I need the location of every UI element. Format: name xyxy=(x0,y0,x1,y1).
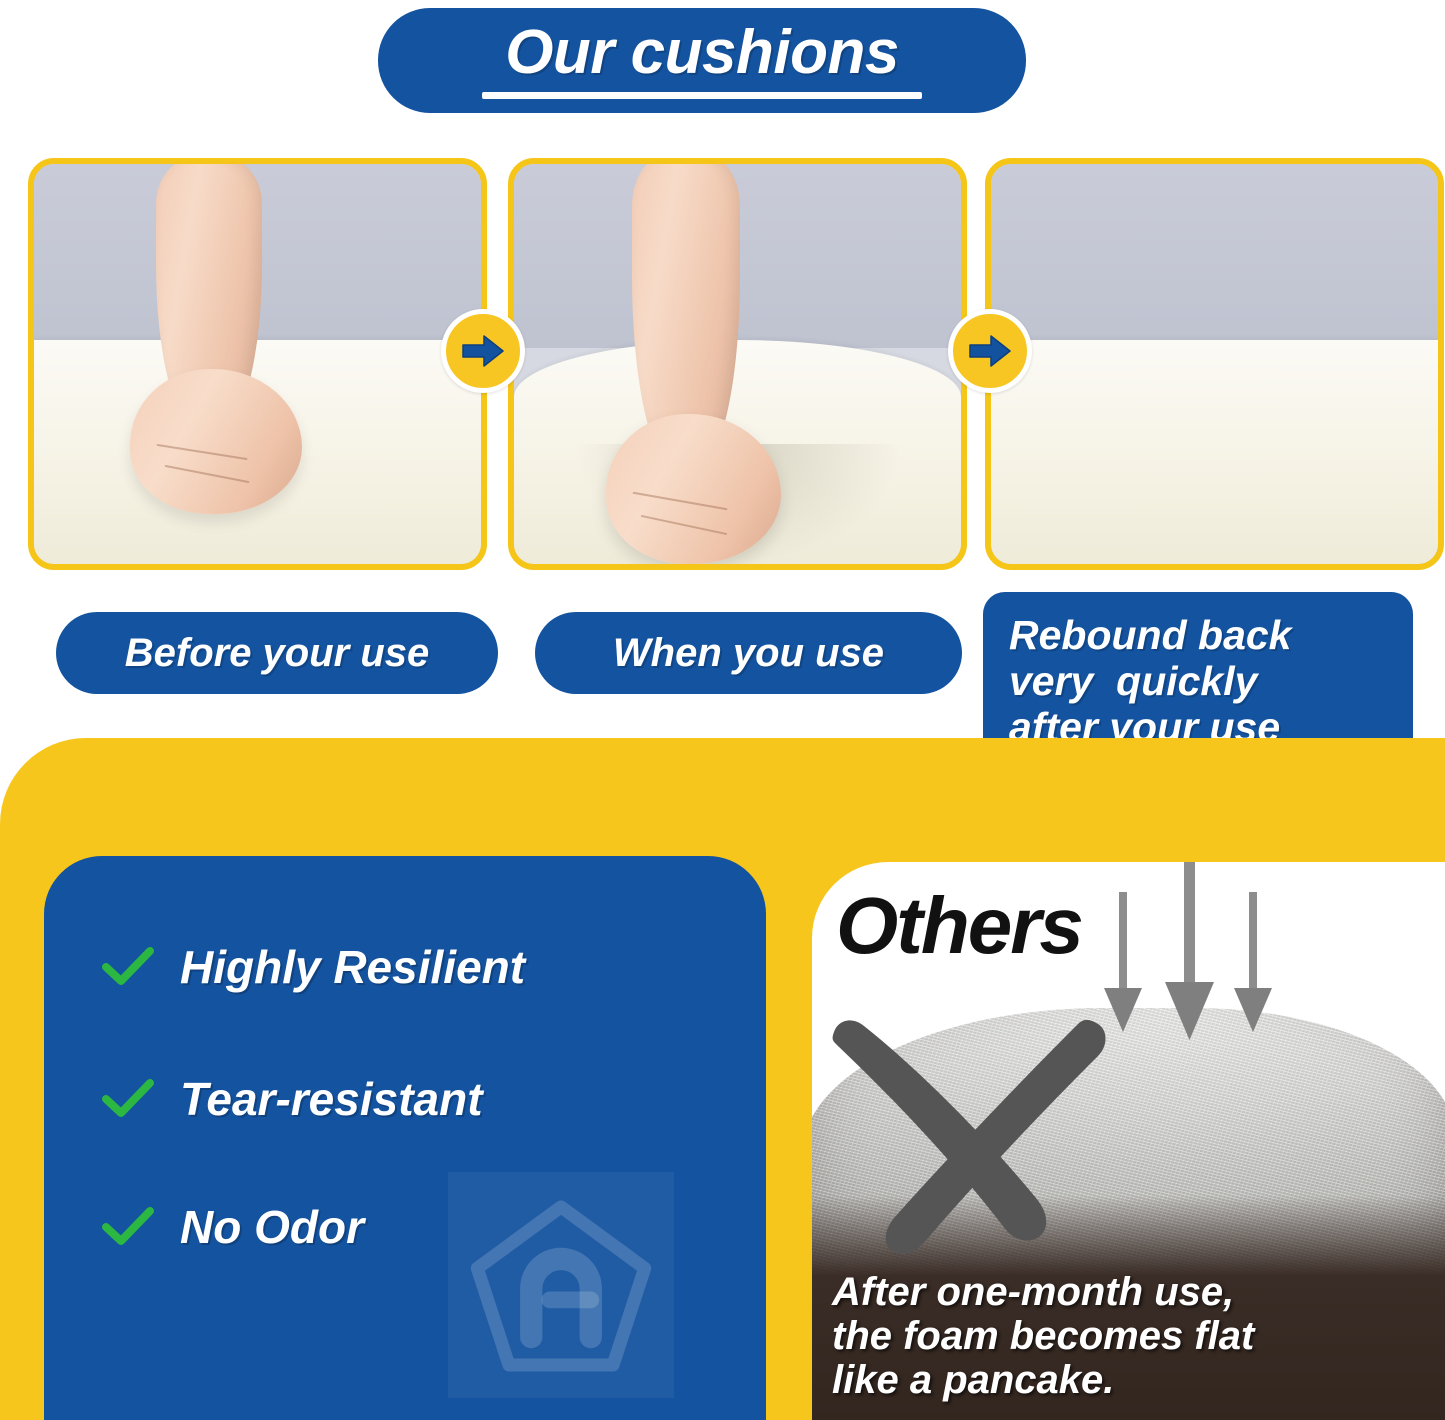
photo-card-before xyxy=(28,158,487,570)
feature-label: Tear-resistant xyxy=(180,1072,483,1126)
infographic-page: Our cushions xyxy=(0,0,1445,1420)
others-caption: After one-month use, the foam becomes fl… xyxy=(832,1270,1431,1402)
page-title: Our cushions xyxy=(505,22,899,84)
caption-line-3: like a pancake. xyxy=(832,1358,1431,1402)
foam-surface-rebounded xyxy=(991,340,1438,564)
photo-during xyxy=(514,164,961,564)
arrow-right-icon xyxy=(969,334,1011,368)
photo-after xyxy=(991,164,1438,564)
page-title-banner: Our cushions xyxy=(378,8,1026,113)
others-panel: Others After one-month use, the foam bec… xyxy=(812,862,1445,1420)
step-label-line-1: Rebound back xyxy=(1009,613,1413,659)
photo-before xyxy=(34,164,481,564)
step-label-during: When you use xyxy=(535,612,962,694)
title-underline xyxy=(482,92,922,99)
step-label-text: When you use xyxy=(613,631,884,676)
feature-item: No Odor xyxy=(102,1200,364,1254)
pentagon-logo-icon xyxy=(468,1195,654,1375)
step-label-text: Before your use xyxy=(125,631,430,676)
photo-card-during xyxy=(508,158,967,570)
feature-label: Highly Resilient xyxy=(180,940,525,994)
arrow-right-icon xyxy=(462,334,504,368)
down-arrow-icon xyxy=(1090,862,1290,1042)
others-title: Others xyxy=(836,886,1082,966)
step-arrow-badge-1 xyxy=(441,309,525,393)
step-arrow-badge-2 xyxy=(948,309,1032,393)
feature-item: Highly Resilient xyxy=(102,940,525,994)
caption-line-1: After one-month use, xyxy=(832,1270,1431,1314)
feature-label: No Odor xyxy=(180,1200,364,1254)
x-cross-icon xyxy=(820,994,1120,1284)
step-label-line-2: very quickly xyxy=(1009,659,1413,705)
step-label-before: Before your use xyxy=(56,612,498,694)
check-icon xyxy=(102,947,154,987)
photo-card-after xyxy=(985,158,1444,570)
feature-item: Tear-resistant xyxy=(102,1072,483,1126)
photo-background xyxy=(991,164,1438,348)
caption-line-2: the foam becomes flat xyxy=(832,1314,1431,1358)
check-icon xyxy=(102,1207,154,1247)
check-icon xyxy=(102,1079,154,1119)
features-panel: Highly Resilient Tear-resistant No Odor xyxy=(44,856,766,1420)
brand-watermark xyxy=(448,1172,674,1398)
